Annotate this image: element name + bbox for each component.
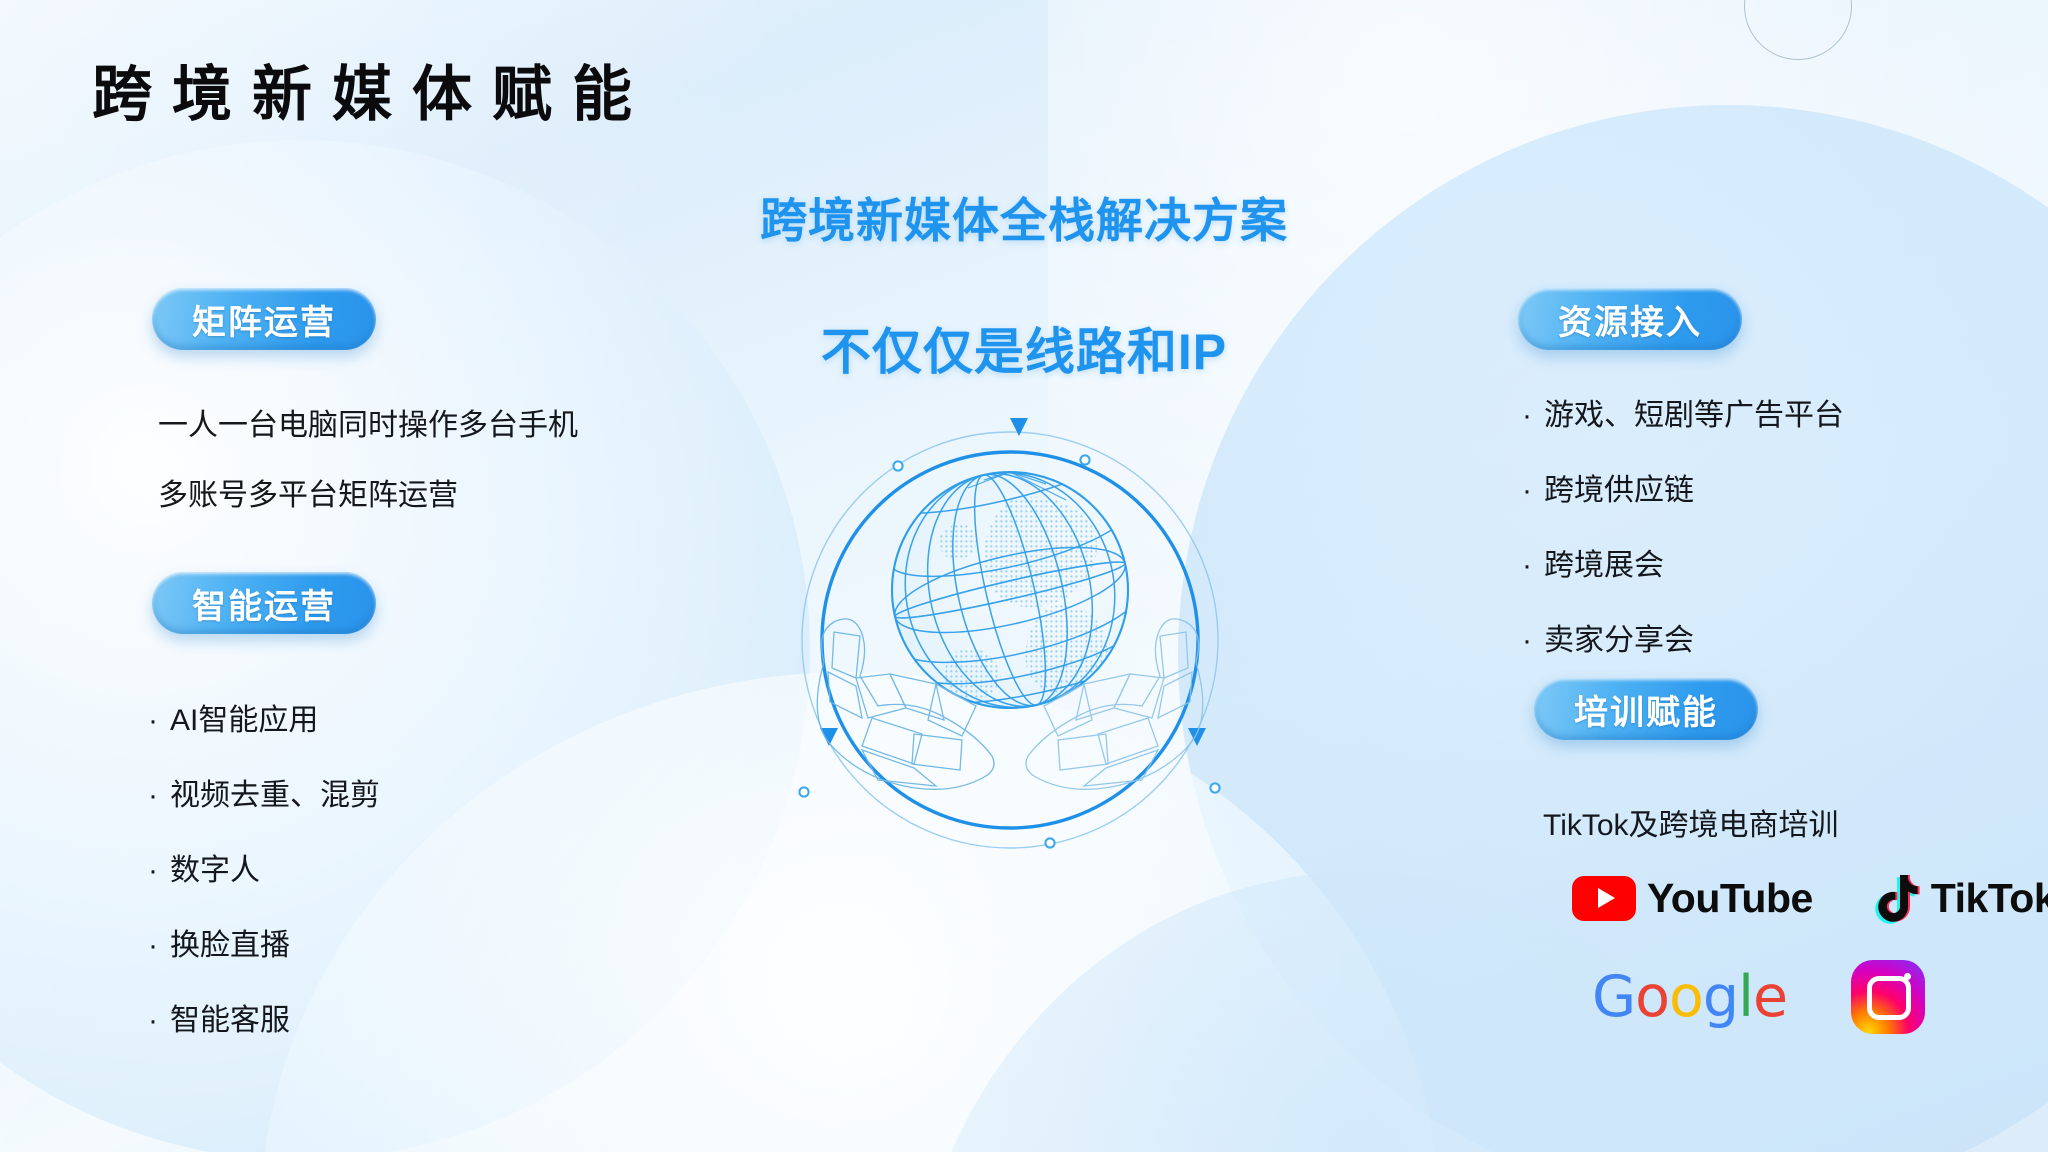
tiktok-logo-label: TikTok xyxy=(1931,875,2048,922)
badge-smart-operations: 智能运营 xyxy=(152,572,376,634)
tiktok-logo: TikTok xyxy=(1875,872,2048,924)
list-item-label: 卖家分享会 xyxy=(1544,615,1694,659)
list-item-label: 换脸直播 xyxy=(170,920,290,964)
tiktok-note-icon xyxy=(1875,872,1923,924)
badge-training-empowerment: 培训赋能 xyxy=(1534,678,1758,740)
bullet-marker: · xyxy=(148,854,170,888)
bullet-marker: · xyxy=(148,1004,170,1038)
bullet-marker: · xyxy=(148,929,170,963)
google-letter-l: l xyxy=(1738,964,1753,1030)
list-item: · 视频去重、混剪 xyxy=(148,770,380,814)
center-headline: 跨境新媒体全栈解决方案 xyxy=(0,182,2048,251)
slide-canvas: 跨境新媒体赋能 跨境新媒体全栈解决方案 不仅仅是线路和IP 矩阵运营 一人一台电… xyxy=(0,0,2048,1152)
bullet-marker: · xyxy=(1522,549,1544,583)
list-item-label: AI智能应用 xyxy=(170,695,318,739)
list-item: · 换脸直播 xyxy=(148,920,380,964)
background-circle-left xyxy=(0,140,810,1152)
google-letter-e: e xyxy=(1753,964,1787,1030)
list-item-label: 跨境展会 xyxy=(1544,540,1664,584)
list-item: · 智能客服 xyxy=(148,995,380,1039)
list-item: · AI智能应用 xyxy=(148,695,380,739)
badge-matrix-operations: 矩阵运营 xyxy=(152,288,376,350)
youtube-logo: YouTube xyxy=(1572,875,1813,922)
list-item: · 跨境供应链 xyxy=(1522,465,1844,509)
badge-label: 培训赋能 xyxy=(1574,685,1718,734)
logo-row-secondary: Google xyxy=(1592,960,1925,1034)
google-letter-g: g xyxy=(1703,964,1738,1030)
bullet-marker: · xyxy=(1522,474,1544,508)
google-logo: Google xyxy=(1592,964,1787,1030)
list-item-label: 数字人 xyxy=(170,845,260,889)
decorative-ring-outline xyxy=(1744,0,1852,60)
badge-label: 资源接入 xyxy=(1558,295,1702,344)
left-paragraph-2: 多账号多平台矩阵运营 xyxy=(158,470,458,514)
list-item: · 游戏、短剧等广告平台 xyxy=(1522,390,1844,434)
left-bullet-list: · AI智能应用 · 视频去重、混剪 · 数字人 · 换脸直播 · 智能客服 xyxy=(148,695,380,1039)
list-item: · 卖家分享会 xyxy=(1522,615,1844,659)
youtube-logo-label: YouTube xyxy=(1647,875,1813,922)
logo-row-primary: YouTube TikTok xyxy=(1572,872,2048,924)
list-item: · 数字人 xyxy=(148,845,380,889)
list-item-label: 游戏、短剧等广告平台 xyxy=(1544,390,1844,434)
google-letter-o2: o xyxy=(1669,964,1703,1030)
bullet-marker: · xyxy=(148,704,170,738)
list-item-label: 视频去重、混剪 xyxy=(170,770,380,814)
google-letter-o1: o xyxy=(1635,964,1669,1030)
badge-label: 智能运营 xyxy=(192,579,336,628)
right-paragraph-1: TikTok及跨境电商培训 xyxy=(1543,800,1839,844)
globe-wireframe xyxy=(868,448,1151,731)
bullet-marker: · xyxy=(148,779,170,813)
hands-holding-globe-illustration xyxy=(760,400,1260,880)
badge-label: 矩阵运营 xyxy=(192,295,336,344)
page-title: 跨境新媒体赋能 xyxy=(92,46,652,133)
bullet-marker: · xyxy=(1522,399,1544,433)
instagram-logo xyxy=(1851,960,1925,1034)
list-item-label: 智能客服 xyxy=(170,995,290,1039)
left-paragraph-1: 一人一台电脑同时操作多台手机 xyxy=(158,400,578,444)
right-bullet-list: · 游戏、短剧等广告平台 · 跨境供应链 · 跨境展会 · 卖家分享会 xyxy=(1522,390,1844,659)
list-item-label: 跨境供应链 xyxy=(1544,465,1694,509)
google-letter-G: G xyxy=(1592,964,1635,1030)
list-item: · 跨境展会 xyxy=(1522,540,1844,584)
badge-resource-access: 资源接入 xyxy=(1518,288,1742,350)
youtube-play-icon xyxy=(1572,876,1636,921)
bullet-marker: · xyxy=(1522,624,1544,658)
